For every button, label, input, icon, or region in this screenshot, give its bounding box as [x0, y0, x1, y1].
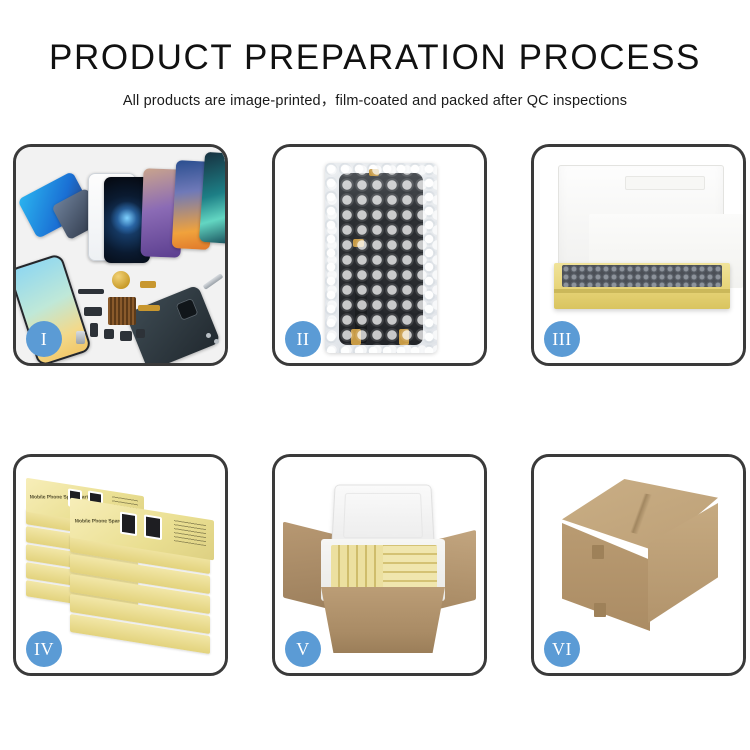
process-steps-grid: I II [13, 144, 737, 676]
product-preparation-process-page: PRODUCT PREPARATION PROCESS All products… [0, 0, 750, 750]
screw-icon [206, 333, 211, 338]
flex-cable-icon [138, 305, 160, 311]
step-badge-5: V [285, 631, 321, 667]
step-badge-6: VI [544, 631, 580, 667]
bottom-connector-left-icon [351, 329, 361, 345]
step-panel-5: V [272, 454, 487, 676]
step-panel-4: Mobile Phone Spare Parts Mobile Phone Sp… [13, 454, 228, 676]
step-badge-3: III [544, 321, 580, 357]
mid-connector-icon [353, 239, 364, 247]
step-badge-4: IV [26, 631, 62, 667]
bubble-wrap-package [325, 163, 437, 353]
step-panel-6: VI [531, 454, 746, 676]
top-connector-icon [369, 169, 379, 176]
vibrator-icon [90, 323, 98, 337]
antenna-strip-icon [78, 289, 104, 294]
step-badge-2: II [285, 321, 321, 357]
phone-back-cover-icon [125, 285, 221, 363]
carton-front-wall-icon [321, 587, 445, 653]
wrapped-screen-icon [339, 173, 423, 345]
flex-connector-icon [140, 281, 156, 288]
button-icon [136, 329, 145, 338]
earpiece-icon [120, 331, 132, 341]
bottom-connector-right-icon [399, 329, 409, 345]
screen-image-swatch [144, 514, 162, 540]
page-title: PRODUCT PREPARATION PROCESS [0, 40, 750, 77]
screw-icon [214, 339, 219, 344]
step-panel-3: III [531, 144, 746, 366]
lid-tab-icon [625, 176, 705, 190]
ic-chip-icon [84, 307, 102, 316]
step-panel-1: I [13, 144, 228, 366]
camera-module-icon [104, 329, 114, 339]
box-lip-icon [554, 289, 730, 293]
tape-patch-upper-icon [592, 545, 604, 559]
yellow-box-base-icon [554, 263, 730, 309]
tweezers-icon [203, 273, 224, 290]
step-panel-2: II [272, 144, 487, 366]
speaker-coil-icon [112, 271, 130, 289]
page-subtitle: All products are image-printed，film-coat… [0, 89, 750, 110]
tape-patch-lower-icon [594, 603, 606, 617]
sim-tray-icon [76, 331, 85, 344]
logic-board-icon [108, 297, 136, 325]
bubble-wrapped-contents-icon [562, 265, 722, 287]
step-badge-1: I [26, 321, 62, 357]
spec-text-lines [174, 519, 206, 546]
page-header: PRODUCT PREPARATION PROCESS All products… [0, 0, 750, 110]
packed-yellow-boxes-row2-icon [383, 545, 437, 589]
screen-image-swatch [120, 512, 137, 537]
